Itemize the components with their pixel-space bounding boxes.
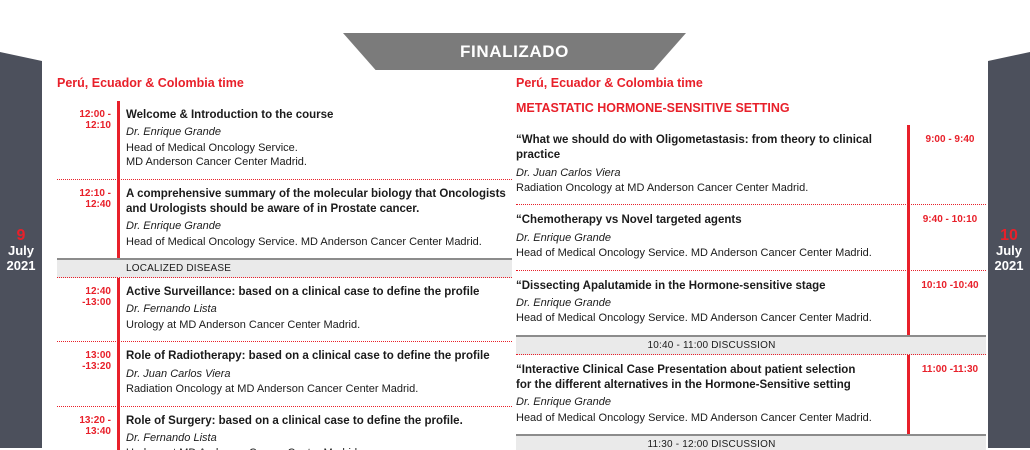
- session-speaker: Dr. Enrique Grande: [126, 219, 512, 234]
- session-body: “What we should do with Oligometastasis:…: [516, 133, 907, 195]
- session-list-left-top: 12:00 - 12:10 Welcome & Introduction to …: [57, 101, 512, 258]
- day-tab-right-year: 2021: [995, 259, 1024, 274]
- agenda-column-day10: Perú, Ecuador & Colombia time METASTATIC…: [516, 76, 986, 450]
- session-time: 9:00 - 9:40: [907, 133, 986, 195]
- session-affiliation-2: MD Anderson Cancer Center Madrid.: [126, 155, 512, 170]
- discussion-band-1-label: 10:40 - 11:00 DISCUSSION: [647, 340, 775, 351]
- session-row[interactable]: “What we should do with Oligometastasis:…: [516, 125, 986, 204]
- session-speaker: Dr. Enrique Grande: [126, 125, 512, 140]
- section-title-metastatic: METASTATIC HORMONE-SENSITIVE SETTING: [516, 101, 986, 115]
- section-band-label: LOCALIZED DISEASE: [126, 263, 231, 274]
- session-body: “Dissecting Apalutamide in the Hormone-s…: [516, 279, 907, 326]
- session-affiliation: Radiation Oncology at MD Anderson Cancer…: [126, 382, 512, 397]
- day-tab-left-year: 2021: [7, 259, 36, 274]
- session-time: 12:10 - 12:40: [57, 187, 117, 249]
- day-tab-right[interactable]: 10 July 2021: [988, 52, 1030, 448]
- day-tab-right-month: July: [996, 244, 1022, 259]
- session-body: Role of Radiotherapy: based on a clinica…: [117, 349, 512, 396]
- session-body: Active Surveillance: based on a clinical…: [117, 285, 512, 332]
- discussion-band-2-label: 11:30 - 12:00 DISCUSSION: [647, 439, 775, 450]
- discussion-band-1: 10:40 - 11:00 DISCUSSION: [516, 335, 986, 355]
- session-time: 13:20 - 13:40: [57, 414, 117, 450]
- session-time: 12:40 -13:00: [57, 285, 117, 332]
- session-affiliation: Head of Medical Oncology Service. MD And…: [516, 246, 895, 261]
- session-row[interactable]: 12:00 - 12:10 Welcome & Introduction to …: [57, 101, 512, 179]
- session-affiliation: Urology at MD Anderson Cancer Center Mad…: [126, 318, 512, 333]
- discussion-band-2: 11:30 - 12:00 DISCUSSION: [516, 434, 986, 450]
- session-title: Role of Radiotherapy: based on a clinica…: [126, 349, 512, 364]
- session-list-right-top: “What we should do with Oligometastasis:…: [516, 125, 986, 335]
- session-row[interactable]: “Interactive Clinical Case Presentation …: [516, 355, 986, 434]
- session-title-line2: for the different alternatives in the Ho…: [516, 378, 895, 393]
- session-title: Welcome & Introduction to the course: [126, 108, 512, 123]
- red-divider-right-2: [907, 355, 910, 434]
- session-time: 12:00 - 12:10: [57, 108, 117, 170]
- session-time: 11:00 -11:30: [907, 363, 986, 425]
- session-row[interactable]: 12:40 -13:00 Active Surveillance: based …: [57, 278, 512, 341]
- session-row[interactable]: 12:10 - 12:40 A comprehensive summary of…: [57, 179, 512, 258]
- session-affiliation: Head of Medical Oncology Service. MD And…: [126, 235, 512, 250]
- session-speaker: Dr. Fernando Lista: [126, 302, 512, 317]
- session-body: Role of Surgery: based on a clinical cas…: [117, 414, 512, 450]
- session-speaker: Dr. Enrique Grande: [516, 296, 895, 311]
- red-divider-left: [117, 101, 120, 258]
- session-time: 9:40 - 10:10: [907, 213, 986, 260]
- session-title: “Interactive Clinical Case Presentation …: [516, 363, 895, 378]
- session-affiliation: Head of Medical Oncology Service. MD And…: [516, 311, 895, 326]
- session-title: “Chemotherapy vs Novel targeted agents: [516, 213, 895, 228]
- session-title: “What we should do with Oligometastasis:…: [516, 133, 895, 164]
- session-affiliation: Head of Medical Oncology Service. MD And…: [516, 411, 895, 426]
- session-time: 13:00 -13:20: [57, 349, 117, 396]
- session-title: Role of Surgery: based on a clinical cas…: [126, 414, 512, 429]
- timezone-title-right: Perú, Ecuador & Colombia time: [516, 76, 986, 90]
- section-band-localized-disease: LOCALIZED DISEASE: [57, 258, 512, 278]
- session-body: Welcome & Introduction to the course Dr.…: [117, 108, 512, 170]
- session-speaker: Dr. Juan Carlos Viera: [126, 367, 512, 382]
- session-body: “Interactive Clinical Case Presentation …: [516, 363, 907, 425]
- session-title: Active Surveillance: based on a clinical…: [126, 285, 512, 300]
- session-speaker: Dr. Fernando Lista: [126, 431, 512, 446]
- session-list-right-bottom: “Interactive Clinical Case Presentation …: [516, 355, 986, 434]
- timezone-title-left: Perú, Ecuador & Colombia time: [57, 76, 512, 90]
- session-title: “Dissecting Apalutamide in the Hormone-s…: [516, 279, 895, 294]
- session-affiliation: Radiation Oncology at MD Anderson Cancer…: [516, 181, 895, 196]
- session-speaker: Dr. Enrique Grande: [516, 231, 895, 246]
- agenda-page: FINALIZADO 9 July 2021 10 July 2021 Perú…: [0, 0, 1030, 450]
- session-row[interactable]: “Dissecting Apalutamide in the Hormone-s…: [516, 270, 986, 335]
- session-title: A comprehensive summary of the molecular…: [126, 187, 512, 218]
- session-row[interactable]: 13:00 -13:20 Role of Radiotherapy: based…: [57, 341, 512, 405]
- status-banner: FINALIZADO: [343, 33, 686, 70]
- session-affiliation: Head of Medical Oncology Service.: [126, 141, 512, 156]
- session-affiliation: Urology at MD Anderson Cancer Center Mad…: [126, 446, 512, 450]
- red-divider-left-2: [117, 278, 120, 450]
- day-tab-left-month: July: [8, 244, 34, 259]
- session-time: 10:10 -10:40: [907, 279, 986, 326]
- session-body: “Chemotherapy vs Novel targeted agents D…: [516, 213, 907, 260]
- session-speaker: Dr. Juan Carlos Viera: [516, 166, 895, 181]
- day-tab-left[interactable]: 9 July 2021: [0, 52, 42, 448]
- status-banner-label: FINALIZADO: [460, 42, 569, 62]
- red-divider-right: [907, 125, 910, 335]
- session-row[interactable]: “Chemotherapy vs Novel targeted agents D…: [516, 204, 986, 269]
- day-tab-right-day: 10: [1000, 227, 1018, 245]
- day-tab-left-day: 9: [17, 227, 26, 245]
- agenda-column-day9: Perú, Ecuador & Colombia time 12:00 - 12…: [57, 76, 512, 450]
- session-body: A comprehensive summary of the molecular…: [117, 187, 512, 249]
- session-speaker: Dr. Enrique Grande: [516, 395, 895, 410]
- session-row[interactable]: 13:20 - 13:40 Role of Surgery: based on …: [57, 406, 512, 450]
- session-list-left-bottom: 12:40 -13:00 Active Surveillance: based …: [57, 278, 512, 450]
